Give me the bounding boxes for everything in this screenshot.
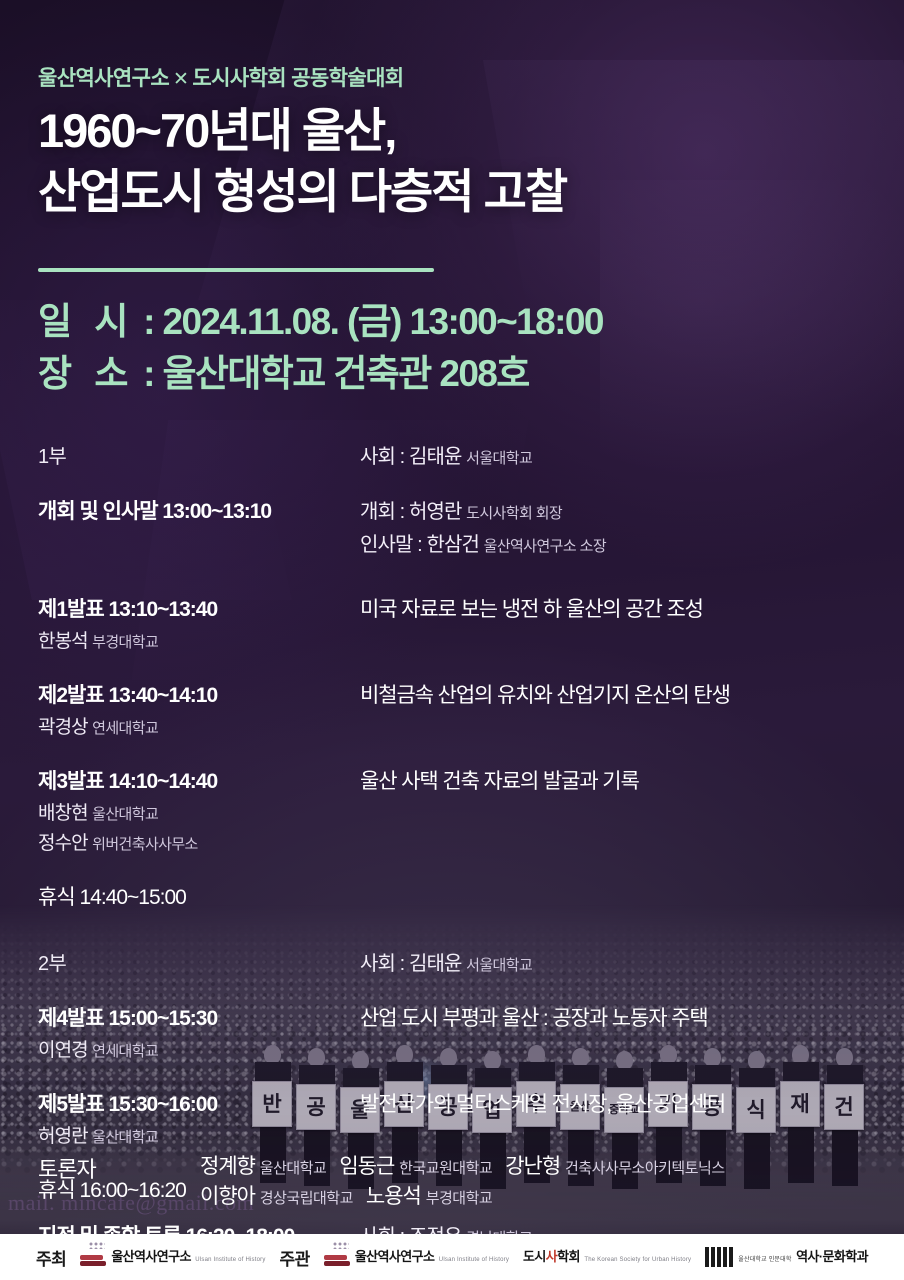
event-date-value: : 2024.11.08. (금) 13:00~18:00 (143, 301, 603, 342)
opening-detail-cell: 개회 : 허영란 도시사학회 회장 인사말 : 한삼건 울산역사연구소 소장 (360, 495, 888, 557)
talk-4-left: 제4발표 15:00~15:30 이연경 연세대학교 (38, 1002, 360, 1062)
talk-2-speaker-row: 곽경상 연세대학교 (38, 712, 360, 739)
talk-4-aff: 연세대학교 (92, 1043, 158, 1060)
schedule-row-part2-heading: 2부 사회 : 김태윤 서울대학교 (38, 947, 888, 976)
schedule-row-talk-1: 제1발표 13:10~13:40 한봉석 부경대학교 미국 자료로 보는 냉전 … (38, 593, 888, 653)
greeting-aff: 울산역사연구소 소장 (484, 538, 606, 555)
discussant-affiliation: 부경대학교 (426, 1190, 493, 1207)
title-divider (38, 268, 434, 272)
talk-5-right: 발전국가의 멀티스케일 전시장, 울산공업센터 (360, 1088, 888, 1118)
talk-1-aff: 부경대학교 (92, 634, 158, 651)
poster-content: 울산역사연구소✕도시사학회 공동학술대회 1960~70년대 울산, 산업도시 … (0, 0, 904, 1280)
kicker-right-org: 도시사학회 공동학술대회 (192, 67, 403, 90)
part2-chair: 사회 : 김태윤 서울대학교 (360, 947, 888, 976)
sponsor-footer: 주최 울산역사연구소 Ulsan Institute of History 주관 (0, 1234, 904, 1280)
society-ko-a: 도시 (523, 1249, 546, 1264)
organizer-label: 주관 (280, 1245, 310, 1270)
department-name: 역사·문화학과 (796, 1249, 868, 1264)
part1-chair-aff: 서울대학교 (466, 450, 532, 467)
society-logo: 도시사학회 The Korean Society for Urban Histo… (523, 1249, 691, 1266)
opening-line: 개회 : 허영란 도시사학회 회장 (360, 495, 888, 524)
host-logo: 울산역사연구소 Ulsan Institute of History (80, 1246, 265, 1268)
talk-2-right: 비철금속 산업의 유치와 산업기지 온산의 탄생 (360, 679, 888, 709)
schedule-row-talk-4: 제4발표 15:00~15:30 이연경 연세대학교 산업 도시 부평과 울산 … (38, 1002, 888, 1062)
talk-3-speaker-row: 배창현 울산대학교 (38, 798, 360, 825)
host-logo-en: Ulsan Institute of History (195, 1257, 265, 1263)
talk-3-speaker2: 정수안 (38, 833, 88, 854)
talk-5-slot: 제5발표 15:30~16:00 (38, 1088, 360, 1118)
break-1-cell: 휴식 14:40~15:00 (38, 881, 360, 911)
talk-1-title: 미국 자료로 보는 냉전 하 울산의 공간 조성 (360, 593, 888, 623)
talk-3-aff2: 위버건축사사무소 (92, 836, 198, 853)
event-place-value: : 울산대학교 건축관 208호 (143, 353, 529, 394)
program-schedule: 1부 사회 : 김태윤 서울대학교 개회 및 인사말 13:00~13:10 개… (38, 440, 888, 1252)
discussant-name: 정계향 (200, 1155, 260, 1178)
event-place-row: 장 소 : 울산대학교 건축관 208호 (38, 348, 603, 400)
organizer-logo-ko: 울산역사연구소 (355, 1249, 435, 1264)
opening-slot-cell: 개회 및 인사말 13:00~13:10 (38, 495, 360, 525)
department-logo: 울산대학교 인문대학 역사·문화학과 (705, 1247, 868, 1267)
organizer-logo-text: 울산역사연구소 Ulsan Institute of History (355, 1249, 509, 1266)
talk-4-slot: 제4발표 15:00~15:30 (38, 1002, 360, 1032)
opening-slot: 개회 및 인사말 13:00~13:10 (38, 495, 360, 525)
talk-2-aff: 연세대학교 (92, 720, 158, 737)
event-date-label: 일 시 (38, 301, 134, 342)
conference-poster: 반공울산공업추울산중학교기공식재건 mail. mincafe@gmail.co… (0, 0, 904, 1280)
schedule-row-talk-2: 제2발표 13:40~14:10 곽경상 연세대학교 비철금속 산업의 유치와 … (38, 679, 888, 739)
cross-icon: ✕ (169, 69, 192, 90)
talk-4-right: 산업 도시 부평과 울산 : 공장과 노동자 주택 (360, 1002, 888, 1032)
title-line-1: 1960~70년대 울산, (38, 100, 566, 161)
host-logo-ko: 울산역사연구소 (111, 1249, 191, 1264)
spacer (38, 559, 888, 593)
discussants-section: 토론자 정계향 울산대학교임동근 한국교원대학교강난형 건축사사무소아키텍토닉스… (38, 1152, 898, 1213)
spacer (38, 913, 888, 947)
part2-chair-aff: 서울대학교 (466, 957, 532, 974)
part1-chair: 사회 : 김태윤 서울대학교 (360, 440, 888, 469)
part1-heading: 1부 (38, 440, 360, 469)
books-sparkle-icon (333, 1242, 349, 1249)
talk-4-speaker-row: 이연경 연세대학교 (38, 1035, 360, 1062)
opening-aff: 도시사학회 회장 (466, 505, 562, 522)
part1-chair-name: 사회 : 김태윤 (360, 446, 461, 468)
part2-heading-cell: 2부 (38, 947, 360, 976)
bars-icon (705, 1247, 733, 1267)
schedule-row-opening: 개회 및 인사말 13:00~13:10 개회 : 허영란 도시사학회 회장 인… (38, 495, 888, 557)
discussant-affiliation: 한국교원대학교 (399, 1160, 492, 1177)
books-icon (80, 1246, 106, 1268)
talk-3-aff: 울산대학교 (92, 806, 158, 823)
host-label: 주최 (36, 1245, 66, 1270)
discussants-label: 토론자 (38, 1152, 200, 1213)
organizer-logo-en: Ulsan Institute of History (439, 1257, 509, 1263)
society-logo-ko: 도시사학회 (523, 1249, 580, 1264)
event-place-label: 장 소 (38, 353, 134, 394)
greeting-name: 인사말 : 한삼건 (360, 534, 479, 556)
spacer (38, 741, 888, 765)
schedule-row-break-1: 휴식 14:40~15:00 (38, 881, 888, 911)
part2-chair-name: 사회 : 김태윤 (360, 953, 461, 975)
discussant-affiliation: 건축사사무소아키텍토닉스 (565, 1160, 725, 1177)
page-title: 1960~70년대 울산, 산업도시 형성의 다층적 고찰 (38, 100, 566, 222)
title-line-2: 산업도시 형성의 다층적 고찰 (38, 161, 566, 222)
discussant-name: 이향아 (200, 1185, 260, 1208)
department-logo-text: 울산대학교 인문대학 역사·문화학과 (738, 1249, 868, 1266)
discussants-row-2: 이향아 경상국립대학교노용석 부경대학교 (200, 1182, 898, 1212)
talk-2-speaker: 곽경상 (38, 717, 88, 738)
event-meta: 일 시 : 2024.11.08. (금) 13:00~18:00 장 소 : … (38, 296, 603, 400)
talk-1-slot: 제1발표 13:10~13:40 (38, 593, 360, 623)
talk-5-speaker-row: 허영란 울산대학교 (38, 1121, 360, 1148)
talk-3-slot: 제3발표 14:10~14:40 (38, 765, 360, 795)
discussant-affiliation: 울산대학교 (260, 1160, 327, 1177)
talk-5-title: 발전국가의 멀티스케일 전시장, 울산공업센터 (360, 1088, 888, 1118)
schedule-row-talk-5: 제5발표 15:30~16:00 허영란 울산대학교 발전국가의 멀티스케일 전… (38, 1088, 888, 1148)
talk-3-speaker2-row: 정수안 위버건축사사무소 (38, 828, 360, 855)
schedule-row-part1-heading: 1부 사회 : 김태윤 서울대학교 (38, 440, 888, 469)
books-sparkle-icon (89, 1242, 105, 1249)
talk-5-aff: 울산대학교 (92, 1129, 158, 1146)
discussant-affiliation: 경상국립대학교 (260, 1190, 353, 1207)
event-date-row: 일 시 : 2024.11.08. (금) 13:00~18:00 (38, 296, 603, 348)
talk-1-left: 제1발표 13:10~13:40 한봉석 부경대학교 (38, 593, 360, 653)
spacer (38, 857, 888, 881)
part2-heading: 2부 (38, 947, 360, 976)
society-logo-text: 도시사학회 The Korean Society for Urban Histo… (523, 1249, 691, 1266)
greeting-line: 인사말 : 한삼건 울산역사연구소 소장 (360, 528, 888, 557)
department-university: 울산대학교 인문대학 (738, 1257, 791, 1263)
talk-1-right: 미국 자료로 보는 냉전 하 울산의 공간 조성 (360, 593, 888, 623)
spacer (38, 1064, 888, 1088)
schedule-row-talk-3: 제3발표 14:10~14:40 배창현 울산대학교 정수안 위버건축사사무소 … (38, 765, 888, 855)
spacer (38, 978, 888, 1002)
organizer-logo: 울산역사연구소 Ulsan Institute of History (324, 1246, 509, 1268)
talk-4-speaker: 이연경 (38, 1040, 88, 1061)
break-1: 휴식 14:40~15:00 (38, 881, 360, 911)
discussant-name: 노용석 (366, 1185, 426, 1208)
talk-3-speaker: 배창현 (38, 803, 88, 824)
kicker-left-org: 울산역사연구소 (38, 67, 169, 90)
poster-kicker: 울산역사연구소✕도시사학회 공동학술대회 (38, 62, 404, 92)
talk-1-speaker-row: 한봉석 부경대학교 (38, 626, 360, 653)
spacer (38, 471, 888, 495)
discussant-name: 강난형 (505, 1155, 565, 1178)
talk-3-right: 울산 사택 건축 자료의 발굴과 기록 (360, 765, 888, 795)
society-ko-b: 학회 (557, 1249, 580, 1264)
books-icon (324, 1246, 350, 1268)
part1-heading-cell: 1부 (38, 440, 360, 469)
talk-3-title: 울산 사택 건축 자료의 발굴과 기록 (360, 765, 888, 795)
discussants-list: 정계향 울산대학교임동근 한국교원대학교강난형 건축사사무소아키텍토닉스 이향아… (200, 1152, 898, 1213)
talk-5-speaker: 허영란 (38, 1126, 88, 1147)
part1-chair-cell: 사회 : 김태윤 서울대학교 (360, 440, 888, 469)
society-logo-en: The Korean Society for Urban History (584, 1257, 691, 1263)
talk-4-title: 산업 도시 부평과 울산 : 공장과 노동자 주택 (360, 1002, 888, 1032)
opening-name: 개회 : 허영란 (360, 501, 461, 523)
discussant-name: 임동근 (339, 1155, 399, 1178)
talk-2-title: 비철금속 산업의 유치와 산업기지 온산의 탄생 (360, 679, 888, 709)
host-logo-text: 울산역사연구소 Ulsan Institute of History (111, 1249, 265, 1266)
talk-1-speaker: 한봉석 (38, 631, 88, 652)
discussants-row-1: 정계향 울산대학교임동근 한국교원대학교강난형 건축사사무소아키텍토닉스 (200, 1152, 898, 1182)
part2-chair-cell: 사회 : 김태윤 서울대학교 (360, 947, 888, 976)
talk-3-left: 제3발표 14:10~14:40 배창현 울산대학교 정수안 위버건축사사무소 (38, 765, 360, 855)
society-ko-hl: 사 (546, 1249, 557, 1264)
spacer (38, 655, 888, 679)
talk-2-slot: 제2발표 13:40~14:10 (38, 679, 360, 709)
talk-5-left: 제5발표 15:30~16:00 허영란 울산대학교 (38, 1088, 360, 1148)
talk-2-left: 제2발표 13:40~14:10 곽경상 연세대학교 (38, 679, 360, 739)
